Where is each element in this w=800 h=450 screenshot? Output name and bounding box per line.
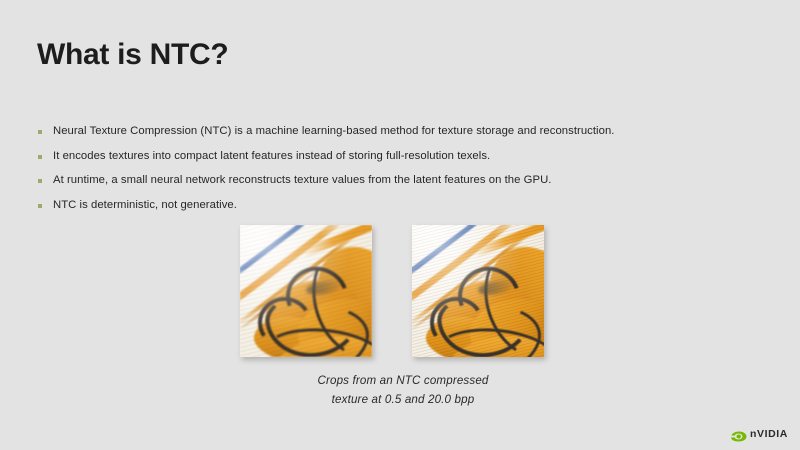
bullet-square-icon [38,130,42,134]
caption-line-2: texture at 0.5 and 20.0 bpp [0,390,800,409]
bullet-square-icon [38,179,42,183]
page-title: What is NTC? [37,38,228,71]
nvidia-logo: nVIDIA [730,429,788,440]
texture-crop-image-low [240,225,372,357]
figure-caption: Crops from an NTC compressed texture at … [0,371,800,409]
texture-artwork [240,225,372,357]
bullet-list: Neural Texture Compression (NTC) is a ma… [38,124,738,222]
bullet-square-icon [38,204,42,208]
bullet-text: At runtime, a small neural network recon… [53,173,551,188]
bullet-square-icon [38,155,42,159]
bullet-text: Neural Texture Compression (NTC) is a ma… [53,124,614,139]
bullet-text: It encodes textures into compact latent … [53,149,490,164]
figure-pair [240,225,544,357]
list-item: At runtime, a small neural network recon… [38,173,738,188]
list-item: Neural Texture Compression (NTC) is a ma… [38,124,738,139]
bullet-text: NTC is deterministic, not generative. [53,198,237,213]
nvidia-eye-icon [730,429,747,440]
list-item: It encodes textures into compact latent … [38,149,738,164]
nvidia-wordmark: nVIDIA [750,429,788,440]
list-item: NTC is deterministic, not generative. [38,198,738,213]
slide-canvas: What is NTC? Neural Texture Compression … [0,0,800,450]
texture-crop-image-high [412,225,544,357]
caption-line-1: Crops from an NTC compressed [0,371,800,390]
texture-artwork [412,225,544,357]
